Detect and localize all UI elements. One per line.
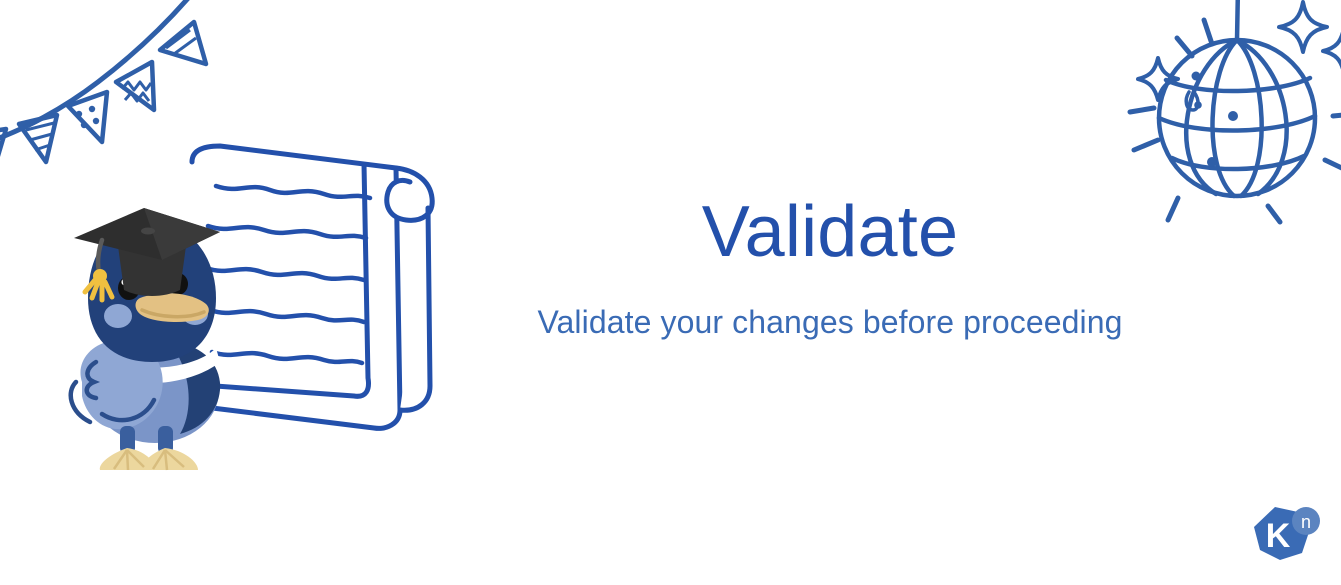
party-bunting-garland-icon [0,0,224,180]
disco-ball-icon [1120,0,1341,227]
page-subtitle: Validate your changes before proceeding [470,304,1190,341]
paper-scroll-icon [178,138,468,453]
hero-text-block: Validate Validate your changes before pr… [470,196,1190,341]
kn-brand-logo: K n [1248,503,1324,565]
logo-letter-k: K [1266,517,1291,555]
logo-letter-n: n [1301,512,1311,532]
graduate-bird-mascot-icon [52,186,252,471]
page-title: Validate [470,196,1190,268]
slide-canvas: Validate Validate your changes before pr… [0,0,1341,585]
